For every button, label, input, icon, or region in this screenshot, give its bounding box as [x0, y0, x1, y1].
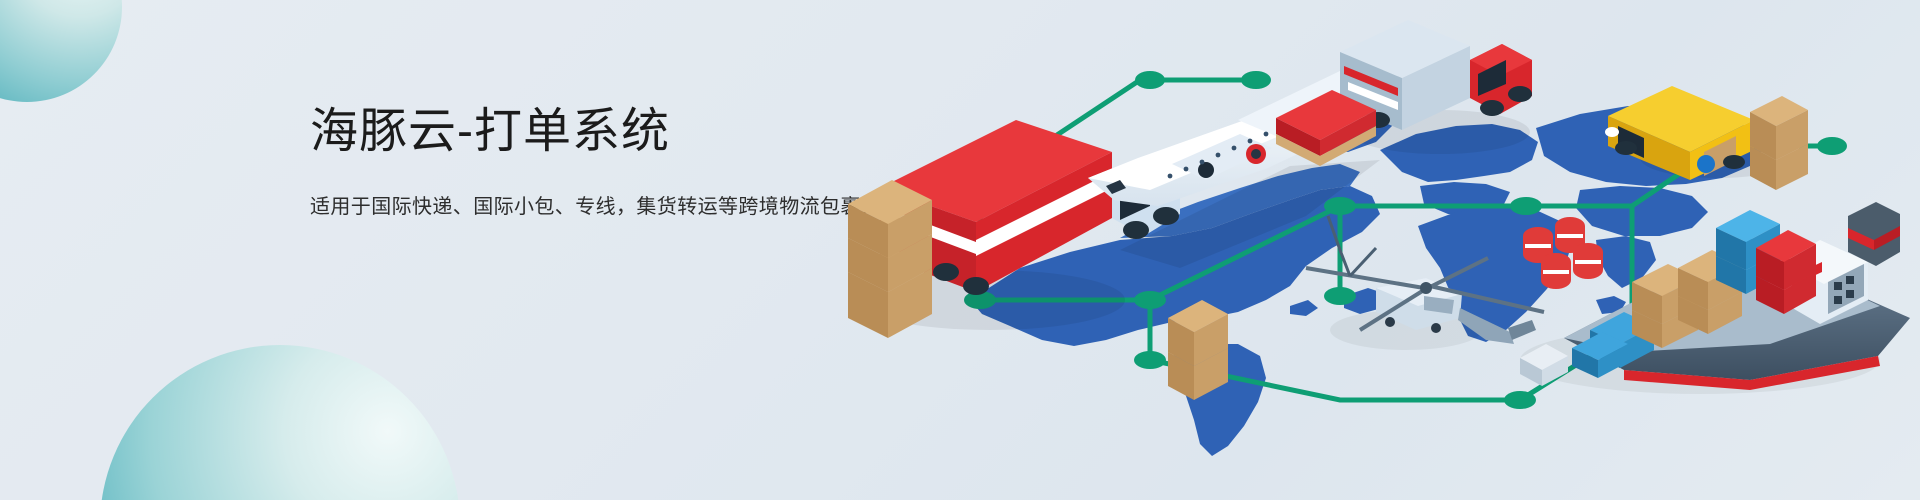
page-subtitle: 适用于国际快递、国际小包、专线，集货转运等跨境物流包裹处理 [310, 192, 902, 222]
hero-copy: 海豚云-打单系统 适用于国际快递、国际小包、专线，集货转运等跨境物流包裹处理 [310, 103, 902, 222]
page-title: 海豚云-打单系统 [310, 103, 902, 162]
hero-banner: 海豚云-打单系统 适用于国际快递、国际小包、专线，集货转运等跨境物流包裹处理 [0, 0, 1920, 500]
logistics-illustration [820, 0, 1920, 500]
ground-boxes-icon [1168, 300, 1228, 400]
cardboard-boxes-icon [848, 180, 932, 338]
decorative-circle-bottom-left [100, 345, 460, 500]
decorative-circle-top-left [0, 0, 122, 102]
